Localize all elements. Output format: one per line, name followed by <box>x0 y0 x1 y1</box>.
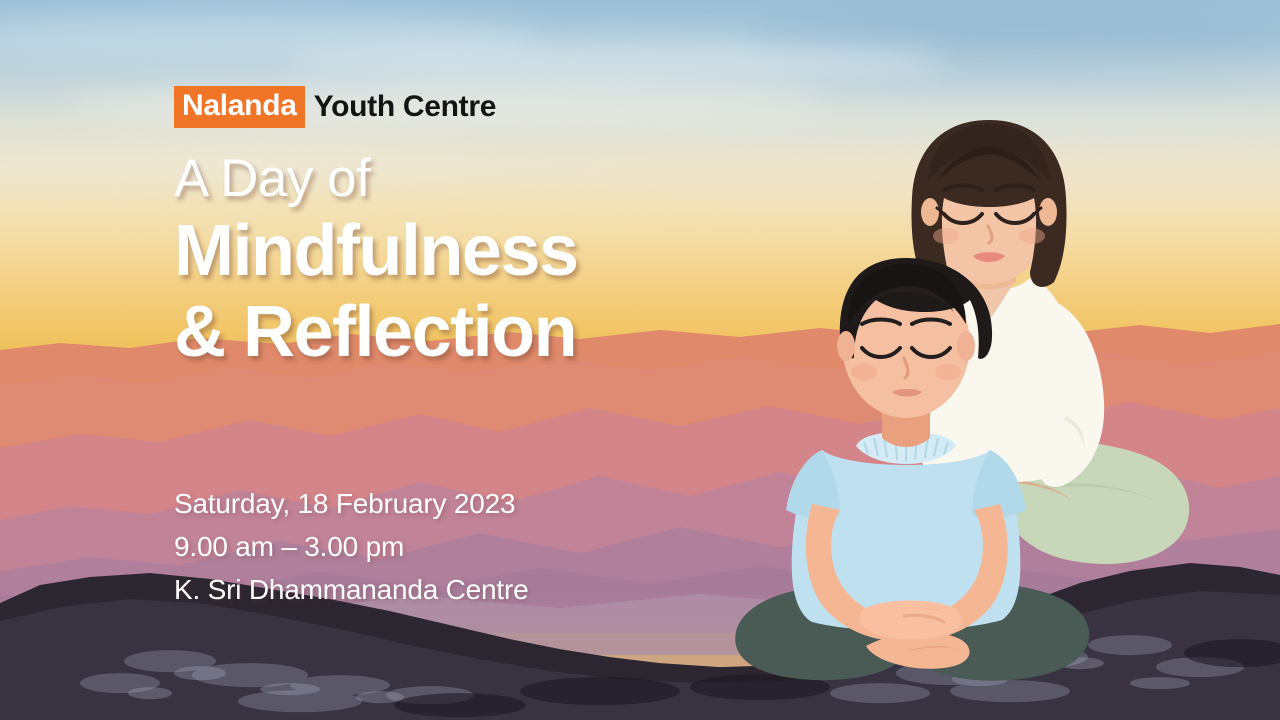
event-venue: K. Sri Dhammananda Centre <box>174 569 529 612</box>
page-title: A Day of Mindfulness & Reflection <box>174 150 578 372</box>
meditating-figures-illustration <box>690 86 1280 720</box>
event-date: Saturday, 18 February 2023 <box>174 483 529 526</box>
title-line-3: & Reflection <box>174 292 578 373</box>
poster-canvas: Nalanda Youth Centre A Day of Mindfulnes… <box>0 0 1280 720</box>
brand-logo[interactable]: Nalanda Youth Centre <box>174 86 496 128</box>
title-line-1: A Day of <box>174 150 578 207</box>
logo-badge-nalanda: Nalanda <box>174 86 305 128</box>
title-line-2: Mindfulness <box>174 211 578 292</box>
logo-word-youth-centre: Youth Centre <box>314 92 497 122</box>
event-details: Saturday, 18 February 2023 9.00 am – 3.0… <box>174 483 529 611</box>
cloud-wisp <box>282 40 948 83</box>
event-time: 9.00 am – 3.00 pm <box>174 526 529 569</box>
